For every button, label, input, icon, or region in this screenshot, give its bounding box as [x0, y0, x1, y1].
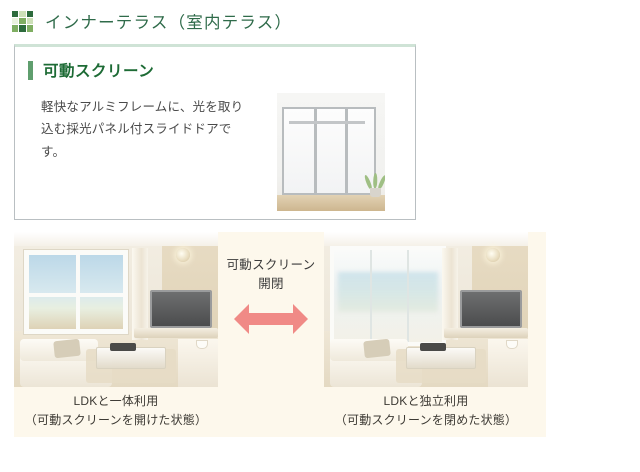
room-coffee-table	[92, 339, 170, 381]
center-label-line1: 可動スクリーン	[222, 256, 320, 275]
grid-squares-icon	[12, 11, 33, 32]
room-curtain	[132, 248, 148, 340]
living-room-screen-open-photo	[14, 232, 218, 387]
comparison-strip: 可動スクリーン 開閉 LDKと一体利用 （可動スクリーンを開けた状態） LDKと…	[14, 232, 546, 437]
center-label: 可動スクリーン 開閉	[222, 256, 320, 295]
room-cup	[196, 340, 208, 349]
photo-top-rail	[289, 121, 365, 124]
caption-right: LDKと独立利用 （可動スクリーンを閉めた状態）	[324, 392, 528, 430]
caption-left-line2: （可動スクリーンを開けた状態）	[14, 411, 218, 430]
panel-heading-text: 可動スクリーン	[43, 59, 154, 81]
wall-sconce-light-icon	[486, 248, 500, 262]
room-bay-window	[24, 250, 128, 334]
panel-description: 軽快なアルミフレームに、光を取り込む採光パネル付スライドドアです。	[41, 96, 253, 163]
room-scene-closed	[324, 232, 528, 387]
arrow-head-right	[293, 304, 308, 334]
sliding-screen-door-photo	[277, 93, 385, 211]
photo-plant	[367, 163, 383, 197]
caption-right-line1: LDKと独立利用	[324, 392, 528, 411]
room-coffee-table	[402, 339, 480, 381]
panel-heading: 可動スクリーン	[28, 59, 154, 81]
room-cup	[506, 340, 518, 349]
room-scene-open	[14, 232, 218, 387]
room-ceiling	[324, 232, 528, 246]
page-title: インナーテラス（室内テラス）	[45, 9, 292, 33]
page-header: インナーテラス（室内テラス）	[0, 0, 640, 42]
photo-plant-pot	[370, 188, 381, 197]
room-tv-stand	[134, 328, 218, 338]
room-tv-stand	[444, 328, 528, 338]
room-television	[460, 290, 522, 328]
center-label-line2: 開閉	[222, 275, 320, 294]
room-curtain	[442, 248, 458, 340]
double-arrow-icon	[234, 304, 308, 334]
caption-left-line1: LDKと一体利用	[14, 392, 218, 411]
page-root: インナーテラス（室内テラス） 可動スクリーン 軽快なアルミフレームに、光を取り込…	[0, 0, 640, 472]
room-ceiling	[14, 232, 218, 246]
wall-sconce-light-icon	[176, 248, 190, 262]
room-television	[150, 290, 212, 328]
heading-accent-bar	[28, 61, 33, 80]
photo-floor	[277, 195, 385, 211]
living-room-screen-closed-photo	[324, 232, 528, 387]
arrow-bar	[247, 313, 295, 325]
caption-right-line2: （可動スクリーンを閉めた状態）	[324, 411, 528, 430]
photo-screen-frame	[282, 107, 376, 195]
caption-left: LDKと一体利用 （可動スクリーンを開けた状態）	[14, 392, 218, 430]
feature-panel: 可動スクリーン 軽快なアルミフレームに、光を取り込む採光パネル付スライドドアです…	[14, 44, 416, 220]
